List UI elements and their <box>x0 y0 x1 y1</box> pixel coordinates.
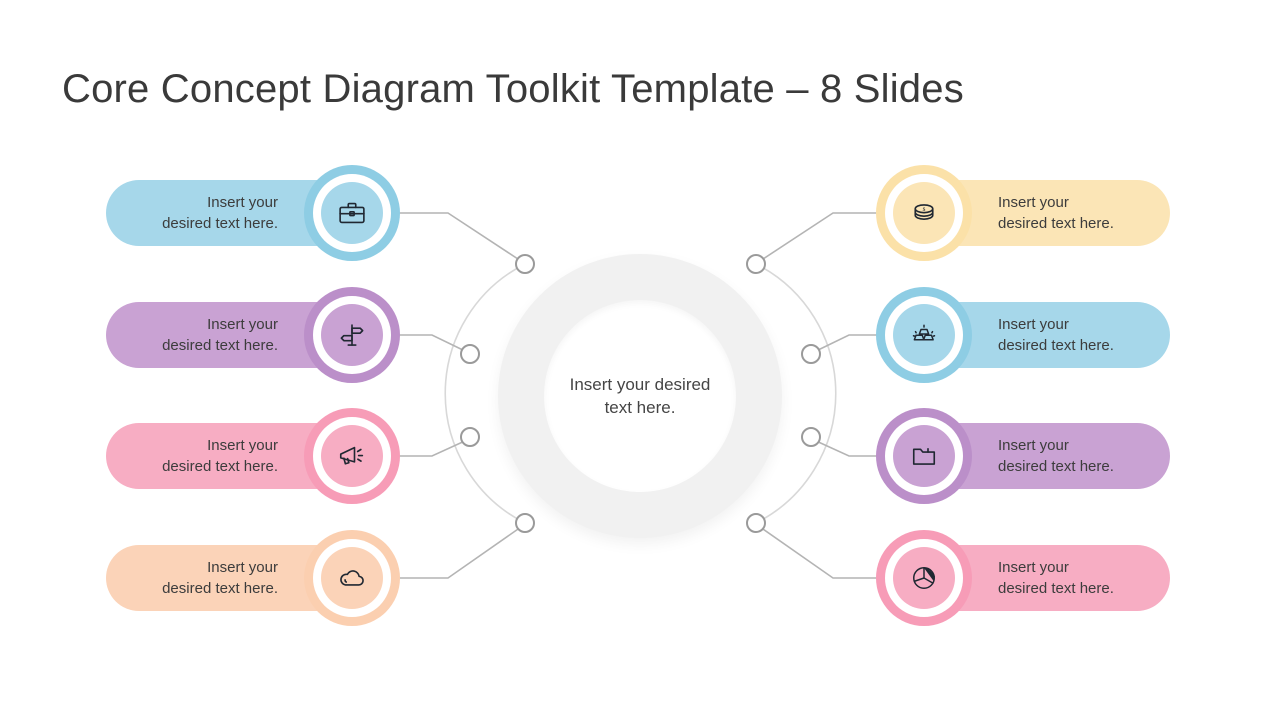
center-hub[interactable]: Insert your desired text here. <box>498 254 782 538</box>
right-item-2-badge[interactable] <box>876 287 972 383</box>
left-item-1-label: Insert your desired text here. <box>162 192 278 234</box>
right-item-1[interactable]: Insert your desired text here. $ <box>890 180 1170 246</box>
arc-node-left-1[interactable] <box>515 254 535 274</box>
folder-icon <box>909 441 939 471</box>
left-item-3-label: Insert your desired text here. <box>162 435 278 477</box>
right-item-4-label: Insert your desired text here. <box>998 557 1114 599</box>
right-item-1-badge-core: $ <box>893 182 955 244</box>
svg-text:$: $ <box>923 206 926 213</box>
right-item-1-label: Insert your desired text here. <box>998 192 1114 234</box>
right-item-2[interactable]: Insert your desired text here. <box>890 302 1170 368</box>
arc-node-left-4[interactable] <box>515 513 535 533</box>
connector-left-4 <box>392 527 521 578</box>
right-item-4[interactable]: Insert your desired text here. <box>890 545 1170 611</box>
arc-node-right-1[interactable] <box>746 254 766 274</box>
left-item-1-badge-gap <box>313 174 391 252</box>
briefcase-icon <box>337 198 367 228</box>
cloud-icon <box>337 563 367 593</box>
right-item-3-badge[interactable] <box>876 408 972 504</box>
left-item-3-badge-core <box>321 425 383 487</box>
right-item-2-badge-gap <box>885 296 963 374</box>
left-item-2-badge-gap <box>313 296 391 374</box>
pie-chart-icon <box>909 563 939 593</box>
right-item-3-label: Insert your desired text here. <box>998 435 1114 477</box>
left-item-2-badge[interactable] <box>304 287 400 383</box>
right-item-4-badge-gap <box>885 539 963 617</box>
center-hub-inner: Insert your desired text here. <box>544 300 736 492</box>
gold-bars-icon <box>909 320 939 350</box>
arc-node-left-3[interactable] <box>460 427 480 447</box>
signpost-icon <box>337 320 367 350</box>
right-item-2-label: Insert your desired text here. <box>998 314 1114 356</box>
right-item-1-badge[interactable]: $ <box>876 165 972 261</box>
left-item-1-badge[interactable] <box>304 165 400 261</box>
coins-stack-icon: $ <box>909 198 939 228</box>
connector-right-4 <box>760 527 889 578</box>
left-item-4-label: Insert your desired text here. <box>162 557 278 599</box>
left-item-4-badge[interactable] <box>304 530 400 626</box>
arc-node-left-2[interactable] <box>460 344 480 364</box>
connector-left-1 <box>392 213 521 261</box>
megaphone-icon <box>337 441 367 471</box>
left-item-4[interactable]: Insert your desired text here. <box>106 545 386 611</box>
arc-node-right-3[interactable] <box>801 427 821 447</box>
left-item-3-badge[interactable] <box>304 408 400 504</box>
left-item-4-badge-gap <box>313 539 391 617</box>
right-item-3-badge-core <box>893 425 955 487</box>
left-item-2[interactable]: Insert your desired text here. <box>106 302 386 368</box>
right-item-3[interactable]: Insert your desired text here. <box>890 423 1170 489</box>
connector-right-1 <box>760 213 889 261</box>
left-item-4-badge-core <box>321 547 383 609</box>
center-hub-text: Insert your desired text here. <box>560 373 720 419</box>
right-item-4-badge[interactable] <box>876 530 972 626</box>
right-item-1-badge-gap: $ <box>885 174 963 252</box>
left-item-2-badge-core <box>321 304 383 366</box>
right-item-3-badge-gap <box>885 417 963 495</box>
left-item-3[interactable]: Insert your desired text here. <box>106 423 386 489</box>
left-item-1[interactable]: Insert your desired text here. <box>106 180 386 246</box>
left-item-1-badge-core <box>321 182 383 244</box>
arc-node-right-2[interactable] <box>801 344 821 364</box>
right-item-2-badge-core <box>893 304 955 366</box>
left-item-3-badge-gap <box>313 417 391 495</box>
left-item-2-label: Insert your desired text here. <box>162 314 278 356</box>
arc-node-right-4[interactable] <box>746 513 766 533</box>
right-item-4-badge-core <box>893 547 955 609</box>
core-concept-diagram: Insert your desired text here. Insert yo… <box>0 0 1280 720</box>
